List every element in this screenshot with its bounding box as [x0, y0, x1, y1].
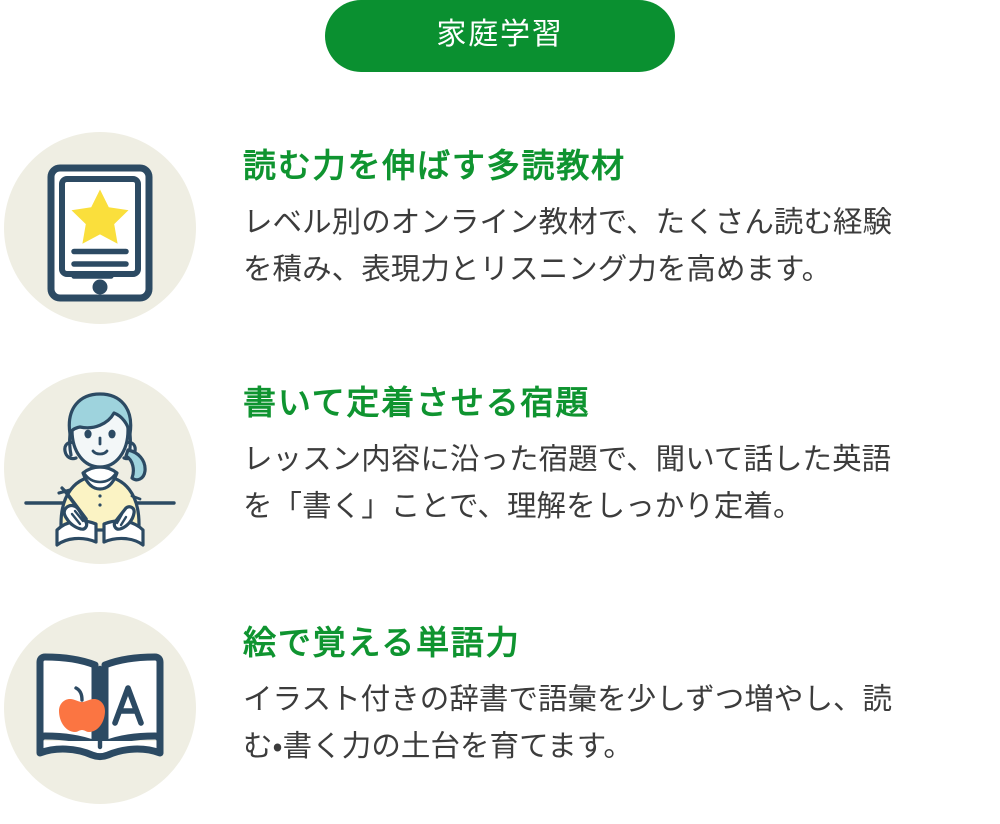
feature-body: レッスン内容に沿った宿題で、聞いて話した英語 を「書く」ことで、理解をしっかり定… [243, 436, 1000, 530]
girl-writing-icon [4, 372, 196, 564]
feature-text-block: 読む力を伸ばす多読教材 レベル別のオンライン教材で、たくさん読む経験 を積み、表… [196, 120, 1000, 293]
list-item: 読む力を伸ばす多読教材 レベル別のオンライン教材で、たくさん読む経験 を積み、表… [0, 120, 1000, 360]
feature-text-block: 絵で覚える単語力 イラスト付きの辞書で語彙を少しずつ増やし、読 む・書く力の土台… [196, 600, 1000, 770]
tablet-star-icon [4, 132, 196, 324]
feature-list: 読む力を伸ばす多読教材 レベル別のオンライン教材で、たくさん読む経験 を積み、表… [0, 120, 1000, 824]
list-item: 書いて定着させる宿題 レッスン内容に沿った宿題で、聞いて話した英語 を「書く」こ… [0, 360, 1000, 600]
feature-title: 書いて定着させる宿題 [243, 382, 1000, 423]
badge-row: 家庭学習 [0, 0, 1000, 72]
feature-title: 読む力を伸ばす多読教材 [243, 145, 1000, 186]
section-badge: 家庭学習 [325, 0, 675, 72]
feature-text-block: 書いて定着させる宿題 レッスン内容に沿った宿題で、聞いて話した英語 を「書く」こ… [196, 360, 1000, 530]
open-book-apple-a-icon [4, 612, 196, 804]
feature-body: イラスト付きの辞書で語彙を少しずつ増やし、読 む・書く力の土台を育てます。 [243, 676, 1000, 770]
feature-body: レベル別のオンライン教材で、たくさん読む経験 を積み、表現力とリスニング力を高め… [243, 199, 1000, 293]
feature-title: 絵で覚える単語力 [243, 622, 1000, 663]
list-item: 絵で覚える単語力 イラスト付きの辞書で語彙を少しずつ増やし、読 む・書く力の土台… [0, 600, 1000, 824]
